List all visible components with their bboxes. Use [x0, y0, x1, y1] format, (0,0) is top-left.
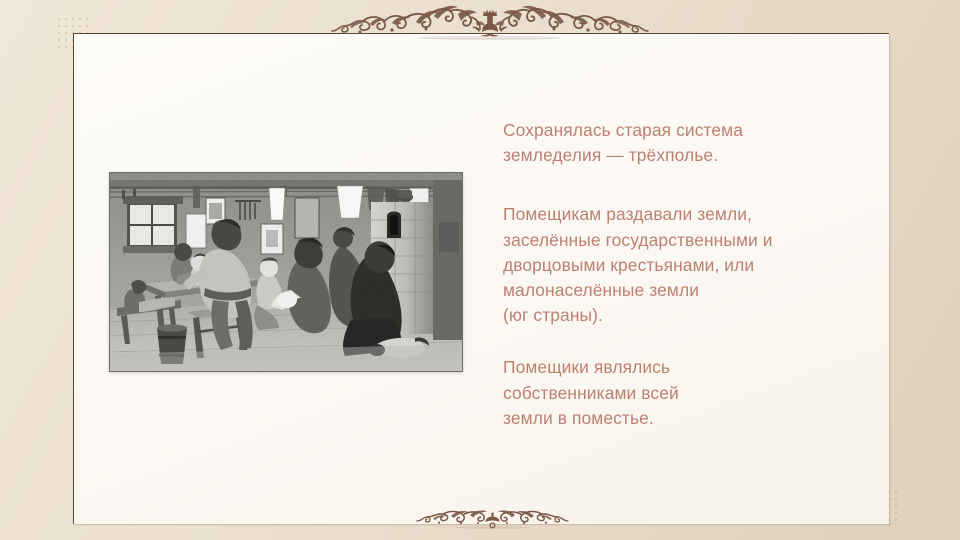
slide-canvas: Сохранялась старая система земледелия — …	[0, 0, 960, 540]
panel-shadow-right	[889, 34, 891, 525]
ornament-divider-bottom-icon	[415, 508, 570, 530]
paragraph-3: Помещики являлись собственниками всей зе…	[503, 355, 833, 431]
peasant-hut-interior-engraving	[109, 172, 463, 372]
paragraph-1: Сохранялась старая система земледелия — …	[503, 118, 833, 168]
panel-border-left	[73, 33, 74, 524]
ornament-divider-top-icon	[330, 2, 650, 42]
text-column: Сохранялась старая система земледелия — …	[503, 118, 833, 431]
paragraph-2: Помещикам раздавали земли, заселённые го…	[503, 202, 833, 328]
